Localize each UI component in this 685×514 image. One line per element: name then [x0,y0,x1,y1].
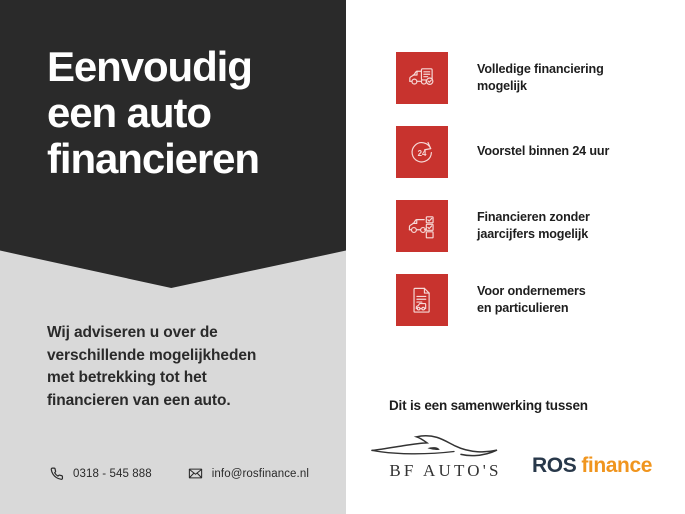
email-address: info@rosfinance.nl [212,468,309,480]
feature-icon-tile [396,52,448,104]
bf-autos-logo: BF AUTO'S [370,430,518,481]
car-checklist-icon [407,211,437,241]
document-car-icon [407,285,437,315]
left-column: Eenvoudig een auto financieren Wij advis… [0,0,346,514]
car-document-check-icon [407,63,437,93]
feature-label: Voor ondernemers en particulieren [477,283,586,318]
feature-item: Financieren zonder jaarcijfers mogelijk [396,200,685,252]
car-silhouette-icon [370,430,518,460]
partnership-heading: Dit is een samenwerking tussen [389,398,588,413]
clock-24-hour-icon: 24 [407,137,437,167]
feature-icon-tile [396,200,448,252]
ros-finance-logo: ROSfinance [532,454,652,478]
finance-wordmark: finance [581,454,652,477]
phone-number: 0318 - 545 888 [73,468,152,480]
right-column: Volledige financiering mogelijk 24 Voors… [346,0,685,514]
contact-phone[interactable]: 0318 - 545 888 [49,466,152,481]
feature-item: Volledige financiering mogelijk [396,52,685,104]
promo-poster: Eenvoudig een auto financieren Wij advis… [0,0,685,514]
feature-item: 24 Voorstel binnen 24 uur [396,126,685,178]
envelope-icon [188,466,203,481]
svg-text:24: 24 [418,149,427,158]
feature-list: Volledige financiering mogelijk 24 Voors… [396,52,685,348]
contact-email[interactable]: info@rosfinance.nl [188,466,309,481]
ros-wordmark: ROS [532,454,576,477]
contact-row: 0318 - 545 888 info@rosfinance.nl [49,466,309,481]
intro-paragraph: Wij adviseren u over de verschillende mo… [47,322,307,412]
bf-autos-wordmark: BF AUTO'S [370,461,518,481]
feature-label: Volledige financiering mogelijk [477,61,604,96]
partner-logos: BF AUTO'S ROSfinance [370,428,670,488]
feature-item: Voor ondernemers en particulieren [396,274,685,326]
feature-icon-tile: 24 [396,126,448,178]
feature-label: Financieren zonder jaarcijfers mogelijk [477,209,590,244]
hero-title: Eenvoudig een auto financieren [47,44,327,182]
phone-icon [49,466,64,481]
hero-panel: Eenvoudig een auto financieren [0,0,346,288]
feature-icon-tile [396,274,448,326]
feature-label: Voorstel binnen 24 uur [477,143,609,161]
